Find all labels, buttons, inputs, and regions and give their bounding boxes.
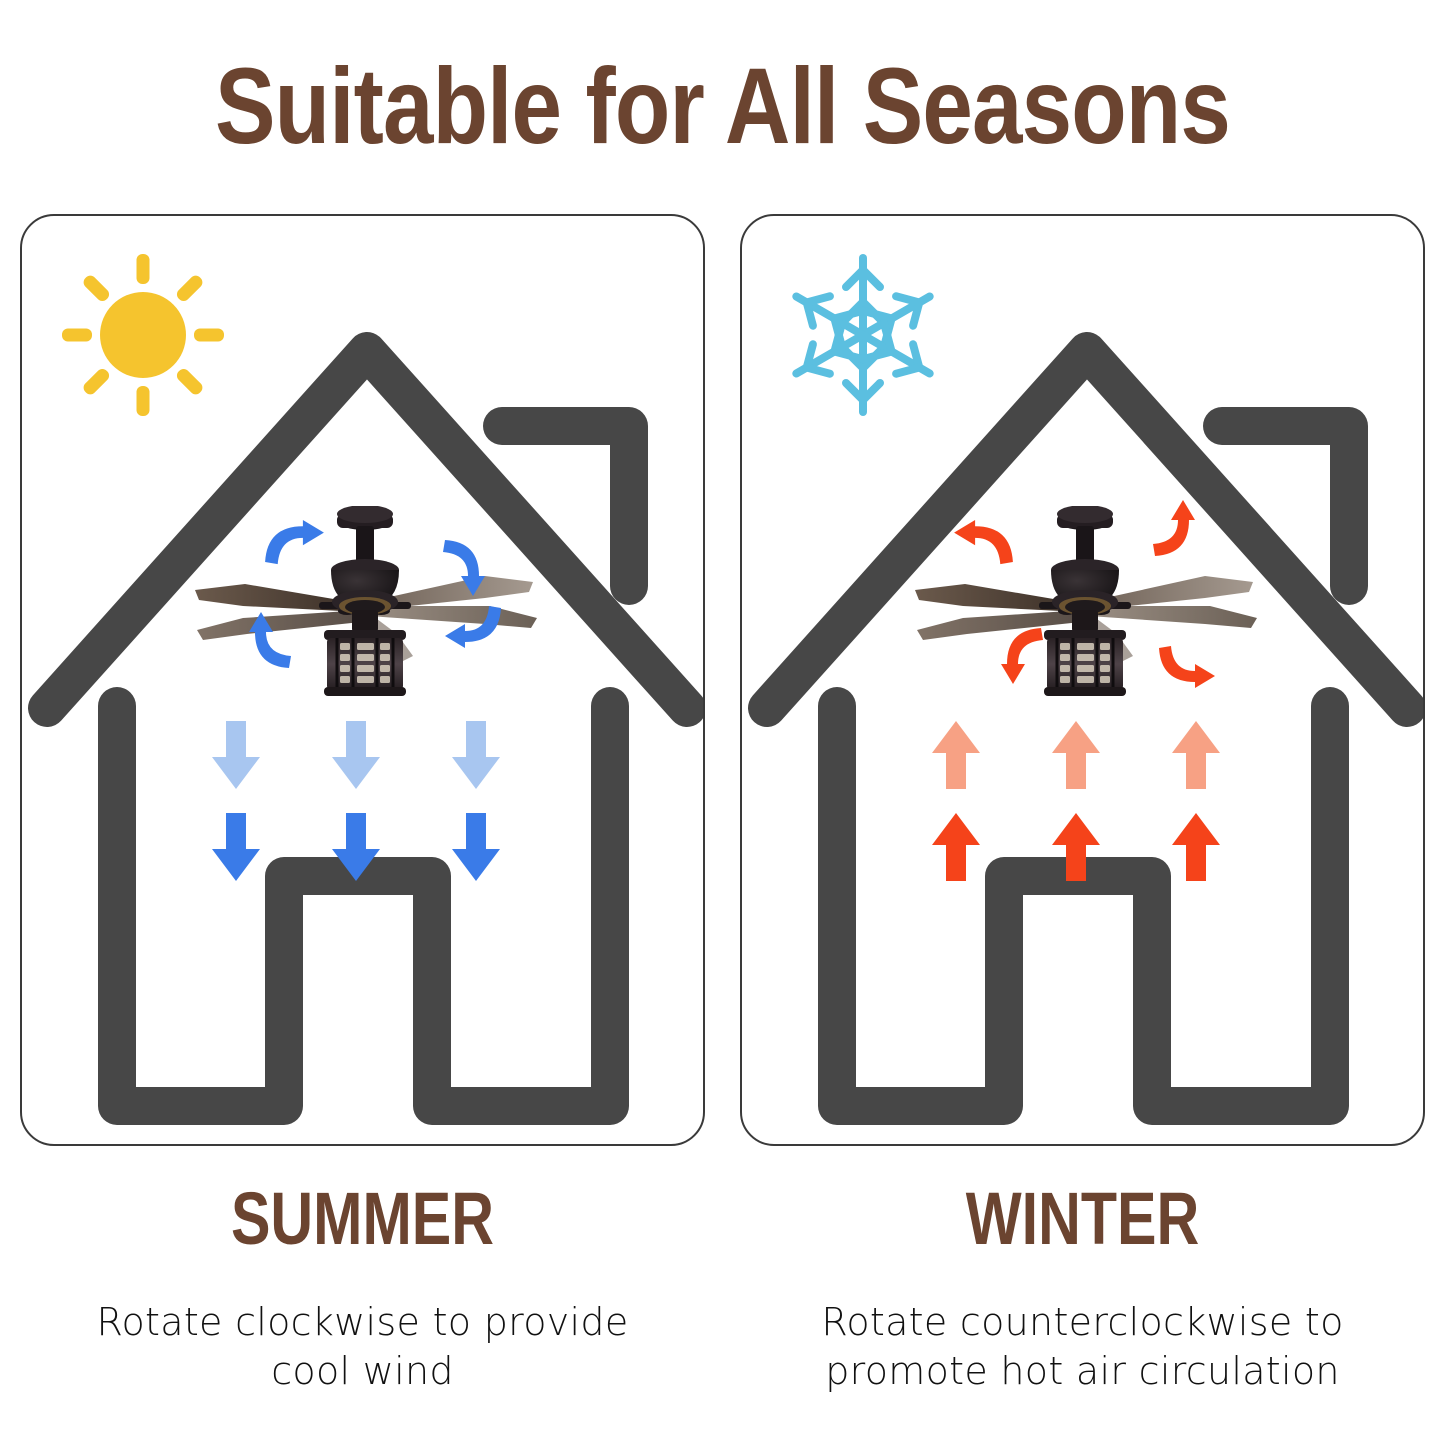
season-description-summer: Rotate clockwise to provide cool wind <box>20 1298 705 1395</box>
infographic-page: Suitable for All Seasons <box>0 0 1445 1445</box>
panel-winter <box>740 214 1425 1146</box>
ceiling-fan-image-summer <box>185 506 545 696</box>
panel-summer <box>20 214 705 1146</box>
season-label-winter: WINTER <box>809 1182 1357 1256</box>
ceiling-fan-image-winter <box>905 506 1265 696</box>
airflow-arrows-up <box>924 721 1244 881</box>
season-label-summer: SUMMER <box>89 1182 637 1256</box>
season-panels <box>20 214 1425 1146</box>
page-title: Suitable for All Seasons <box>116 52 1330 160</box>
season-captions: SUMMER Rotate clockwise to provide cool … <box>20 1182 1425 1432</box>
caption-summer: SUMMER Rotate clockwise to provide cool … <box>20 1182 705 1432</box>
season-description-winter: Rotate counterclockwise to promote hot a… <box>740 1298 1425 1395</box>
caption-winter: WINTER Rotate counterclockwise to promot… <box>740 1182 1425 1432</box>
airflow-arrows-down <box>204 721 524 881</box>
